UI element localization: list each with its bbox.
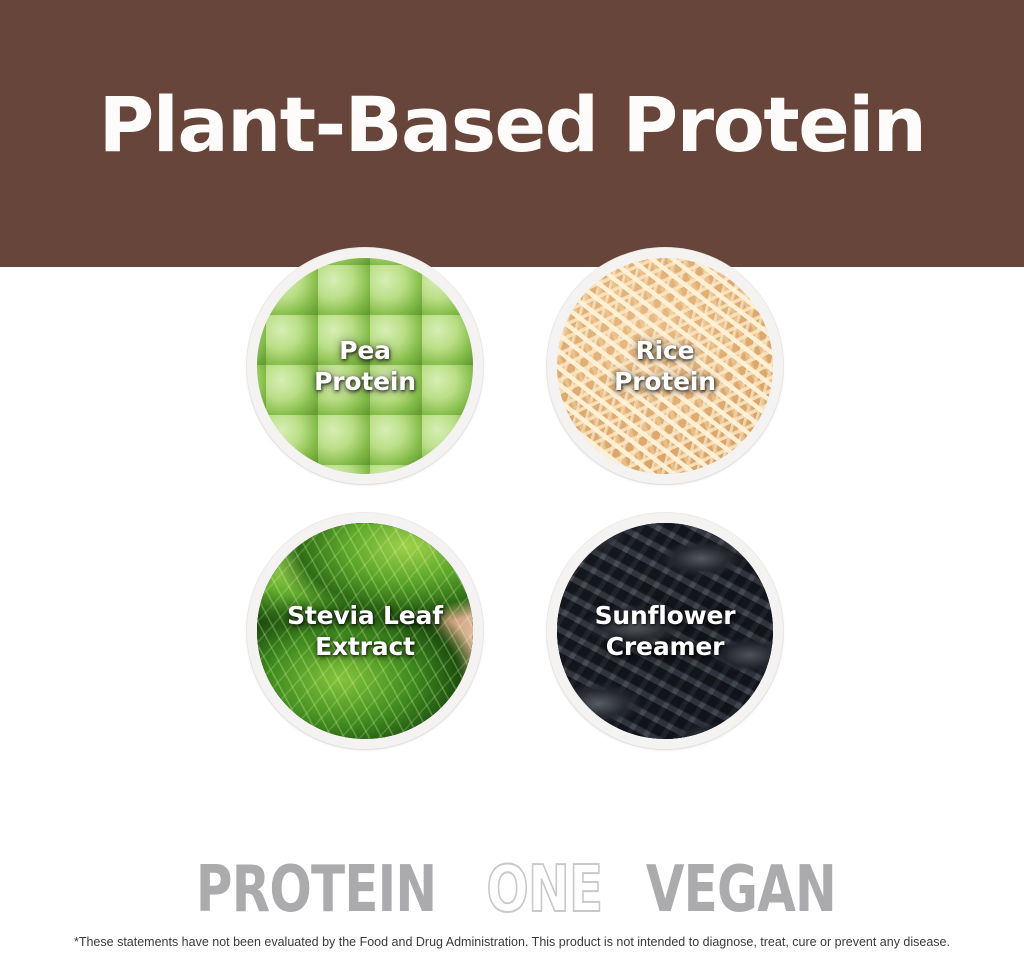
brand-word-one: ONE — [486, 858, 602, 922]
pea-protein-image — [257, 258, 473, 474]
ingredient-grid: Pea Protein Rice Protein Stevia Leaf Ext… — [0, 248, 1024, 748]
pea-texture — [257, 258, 473, 474]
ingredient-card-stevia-leaf-extract[interactable]: Stevia Leaf Extract — [247, 513, 483, 749]
fda-disclaimer: *These statements have not been evaluate… — [0, 934, 1024, 950]
header-banner: Plant-Based Protein — [0, 0, 1024, 267]
leaf-vein-overlay — [257, 523, 473, 739]
brand-word-protein: PROTEIN — [195, 858, 436, 922]
sunflower-creamer-image — [557, 523, 773, 739]
brand-word-vegan: VEGAN — [645, 858, 835, 922]
page-title: Plant-Based Protein — [0, 84, 1024, 166]
ingredient-card-sunflower-creamer[interactable]: Sunflower Creamer — [547, 513, 783, 749]
stevia-leaf-image — [257, 523, 473, 739]
rice-protein-image — [557, 258, 773, 474]
plant-based-protein-infographic: Plant-Based Protein Pea Protein Rice Pro… — [0, 0, 1024, 958]
ingredient-card-pea-protein[interactable]: Pea Protein — [247, 248, 483, 484]
ingredient-card-rice-protein[interactable]: Rice Protein — [547, 248, 783, 484]
brand-logo: PROTEINONE VEGAN — [0, 858, 1024, 922]
rice-texture — [557, 258, 773, 474]
